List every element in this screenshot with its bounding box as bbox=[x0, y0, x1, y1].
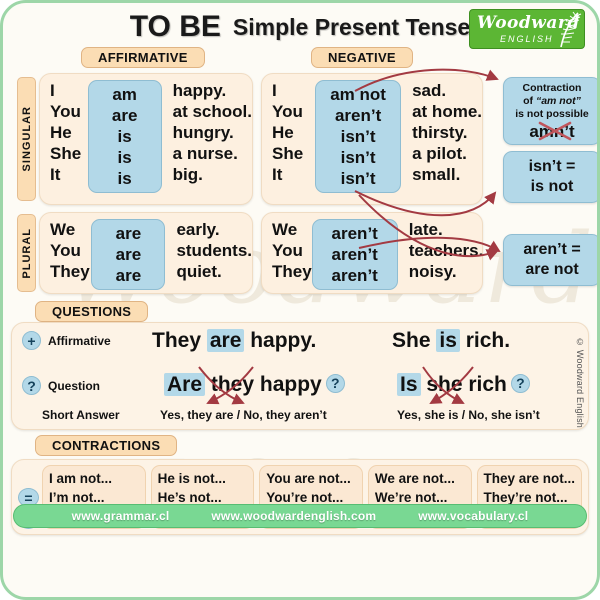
row-label-plural: PLURAL bbox=[17, 214, 36, 292]
label-question: Question bbox=[48, 379, 100, 393]
table-cell: aren’t bbox=[319, 223, 391, 244]
note-amnt-line2-pre: of bbox=[523, 95, 536, 107]
question-example-left-question: Are they happy? bbox=[164, 373, 345, 397]
affirmative-singular-verbs: am are is is is bbox=[88, 80, 162, 193]
table-cell: We bbox=[272, 219, 312, 240]
table-cell: You bbox=[272, 240, 312, 261]
plus-icon: + bbox=[22, 331, 41, 350]
contraction-full: They are not... bbox=[484, 469, 576, 488]
label-affirmative: Affirmative bbox=[48, 334, 111, 348]
q-left-q-verb: Are bbox=[164, 373, 205, 396]
table-cell: at home. bbox=[412, 101, 482, 122]
table-cell: noisy. bbox=[409, 261, 484, 282]
table-cell: He bbox=[272, 122, 315, 143]
table-cell: She bbox=[50, 143, 88, 164]
note-amnt-line1: Contraction bbox=[507, 82, 597, 95]
q-left-question-mark-icon: ? bbox=[326, 374, 345, 393]
note-arent-line1: aren’t = bbox=[507, 240, 597, 260]
table-cell: late. bbox=[409, 219, 484, 240]
table-cell: at school. bbox=[173, 101, 252, 122]
negative-singular-complements: sad. at home. thirsty. a pilot. small. bbox=[401, 80, 482, 193]
plural-band: PLURAL We You They are are are early. bbox=[11, 212, 589, 296]
affirmative-singular-complements: happy. at school. hungry. a nurse. big. bbox=[162, 80, 252, 193]
row-label-singular-text: SINGULAR bbox=[21, 106, 33, 171]
q-right-q-verb: Is bbox=[397, 373, 421, 396]
question-example-left-affirmative: They are happy. bbox=[152, 329, 316, 353]
table-cell: is bbox=[95, 147, 155, 168]
table-cell: You bbox=[50, 101, 88, 122]
note-amnt-line3: is not possible bbox=[507, 108, 597, 121]
panel-negative-singular: I You He She It am not aren’t isn’t isn’… bbox=[261, 73, 483, 205]
poster-header: TO BE Simple Present Tense Woodward ENGL… bbox=[3, 3, 597, 47]
footer-links-bar: www.grammar.cl www.woodwardenglish.com w… bbox=[13, 504, 587, 528]
negative-singular-verbs: am not aren’t isn’t isn’t isn’t bbox=[315, 80, 401, 193]
questions-tag-row: QUESTIONS bbox=[3, 301, 597, 322]
note-arent-line2: are not bbox=[507, 260, 597, 280]
table-cell: aren’t bbox=[319, 265, 391, 286]
table-cell: is bbox=[95, 126, 155, 147]
q-left-q-post: they happy bbox=[205, 373, 322, 396]
table-cell: are bbox=[98, 265, 158, 286]
table-cell: I bbox=[50, 80, 88, 101]
table-cell: are bbox=[95, 105, 155, 126]
table-cell: am bbox=[95, 84, 155, 105]
table-cell: You bbox=[272, 101, 315, 122]
note-amnt-line2: of “am not” bbox=[507, 95, 597, 108]
footer-link-woodwardenglish[interactable]: www.woodwardenglish.com bbox=[211, 509, 376, 523]
table-cell: isn’t bbox=[322, 126, 394, 147]
table-cell: aren’t bbox=[319, 244, 391, 265]
tag-negative: NEGATIVE bbox=[311, 47, 413, 68]
fern-leaf-icon bbox=[548, 11, 582, 49]
row-label-singular: SINGULAR bbox=[17, 77, 36, 201]
negative-singular-subjects: I You He She It bbox=[262, 80, 315, 193]
table-cell: hungry. bbox=[173, 122, 252, 143]
contractions-tag-row: CONTRACTIONS bbox=[3, 435, 597, 456]
table-cell: are bbox=[98, 223, 158, 244]
table-cell: is bbox=[95, 168, 155, 189]
woodward-english-logo: Woodward ENGLISH bbox=[469, 9, 585, 49]
table-cell: teachers. bbox=[409, 240, 484, 261]
table-cell: sad. bbox=[412, 80, 482, 101]
q-right-aff-verb: is bbox=[436, 329, 460, 352]
footer-link-vocabulary[interactable]: www.vocabulary.cl bbox=[418, 509, 528, 523]
table-cell: small. bbox=[412, 164, 482, 185]
affirmative-plural-subjects: We You They bbox=[40, 219, 91, 290]
short-answer-left: Yes, they are / No, they aren’t bbox=[160, 408, 327, 422]
grammar-poster: Woodward ENGLISH TO BE Simple Present Te… bbox=[0, 0, 600, 600]
q-right-question-mark-icon: ? bbox=[511, 374, 530, 393]
table-cell: a nurse. bbox=[173, 143, 252, 164]
q-left-aff-post: happy. bbox=[244, 329, 316, 352]
label-short-answer: Short Answer bbox=[42, 408, 120, 422]
q-left-aff-pre: They bbox=[152, 329, 207, 352]
q-right-aff-pre: She bbox=[392, 329, 436, 352]
contraction-full: He is not... bbox=[158, 469, 248, 488]
contraction-full: We are not... bbox=[375, 469, 465, 488]
note-isnt-line2: is not bbox=[507, 177, 597, 197]
note-arent-equals: aren’t = are not bbox=[503, 234, 600, 286]
table-cell: thirsty. bbox=[412, 122, 482, 143]
panel-affirmative-plural: We You They are are are early. students.… bbox=[39, 212, 253, 294]
note-amnt-word-wrap: amn’t bbox=[529, 122, 574, 142]
table-cell: a pilot. bbox=[412, 143, 482, 164]
panel-affirmative-singular: I You He She It am are is is is happ bbox=[39, 73, 253, 205]
table-cell: He bbox=[50, 122, 88, 143]
negative-plural-subjects: We You They bbox=[262, 219, 312, 290]
tag-affirmative: AFFIRMATIVE bbox=[81, 47, 205, 68]
short-answer-right: Yes, she is / No, she isn’t bbox=[397, 408, 540, 422]
table-cell: She bbox=[272, 143, 315, 164]
tag-contractions: CONTRACTIONS bbox=[35, 435, 177, 456]
table-cell: am not bbox=[322, 84, 394, 105]
negative-plural-verbs: aren’t aren’t aren’t bbox=[312, 219, 398, 290]
note-amnt-line2-em: “am not” bbox=[536, 95, 581, 107]
table-cell: They bbox=[272, 261, 312, 282]
cross-out-icon bbox=[537, 121, 573, 141]
contraction-full: I am not... bbox=[49, 469, 139, 488]
panel-questions: + Affirmative ? Question Short Answer Th… bbox=[11, 322, 589, 430]
question-icon: ? bbox=[22, 376, 41, 395]
table-cell: are bbox=[98, 244, 158, 265]
table-cell: We bbox=[50, 219, 91, 240]
table-cell: You bbox=[50, 240, 91, 261]
question-example-right-question: Is she rich? bbox=[397, 373, 530, 397]
q-left-aff-verb: are bbox=[207, 329, 245, 352]
tag-questions: QUESTIONS bbox=[35, 301, 148, 322]
copyright-text: © Woodward English bbox=[575, 337, 585, 428]
table-cell: quiet. bbox=[176, 261, 252, 282]
contraction-full: You are not... bbox=[266, 469, 356, 488]
affirmative-singular-subjects: I You He She It bbox=[40, 80, 88, 193]
table-cell: happy. bbox=[173, 80, 252, 101]
table-cell: It bbox=[50, 164, 88, 185]
negative-plural-complements: late. teachers. noisy. bbox=[398, 219, 484, 290]
section-tags-row: AFFIRMATIVE NEGATIVE bbox=[3, 47, 597, 69]
page-subtitle: Simple Present Tense bbox=[233, 14, 470, 41]
affirmative-plural-verbs: are are are bbox=[91, 219, 165, 290]
panel-negative-plural: We You They aren’t aren’t aren’t late. t… bbox=[261, 212, 483, 294]
footer-link-grammar[interactable]: www.grammar.cl bbox=[72, 509, 170, 523]
note-amnt-not-possible: Contraction of “am not” is not possible … bbox=[503, 77, 600, 145]
table-cell: isn’t bbox=[322, 168, 394, 189]
table-cell: It bbox=[272, 164, 315, 185]
logo-brand-sub: ENGLISH bbox=[500, 34, 554, 44]
page-title: TO BE bbox=[130, 10, 221, 44]
table-cell: big. bbox=[173, 164, 252, 185]
table-cell: students. bbox=[176, 240, 252, 261]
note-isnt-equals: isn’t = is not bbox=[503, 151, 600, 203]
affirmative-plural-complements: early. students. quiet. bbox=[165, 219, 252, 290]
q-right-q-post: she rich bbox=[421, 373, 507, 396]
question-example-right-affirmative: She is rich. bbox=[392, 329, 510, 353]
q-right-aff-post: rich. bbox=[460, 329, 510, 352]
row-label-plural-text: PLURAL bbox=[21, 228, 33, 279]
table-cell: I bbox=[272, 80, 315, 101]
table-cell: They bbox=[50, 261, 91, 282]
table-cell: aren’t bbox=[322, 105, 394, 126]
table-cell: isn’t bbox=[322, 147, 394, 168]
table-cell: early. bbox=[176, 219, 252, 240]
singular-band: SINGULAR I You He She It am are is bbox=[11, 73, 589, 207]
note-isnt-line1: isn’t = bbox=[507, 157, 597, 177]
